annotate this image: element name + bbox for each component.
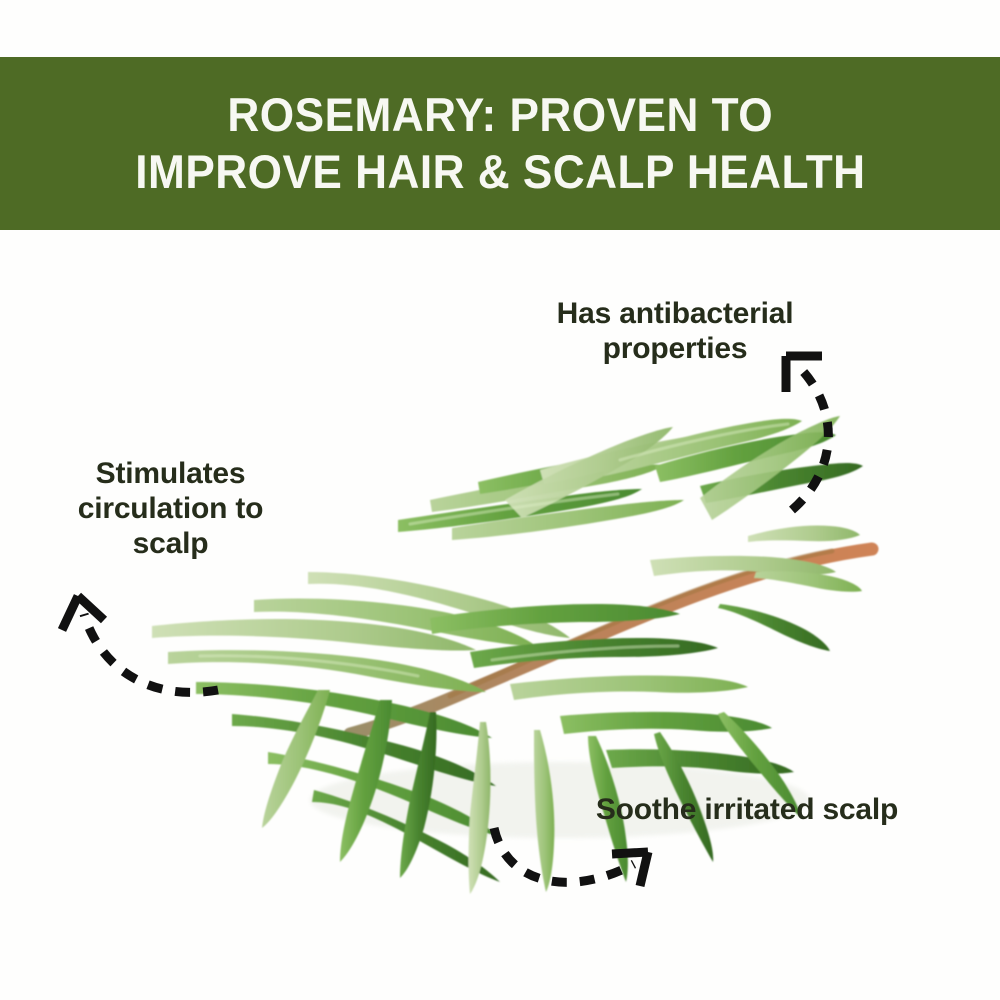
- callout-label-soothe: Soothe irritated scalp: [592, 792, 902, 827]
- callout-label-antibacterial: Has antibacterial properties: [510, 296, 840, 366]
- callout-label-circulation: Stimulates circulation to scalp: [48, 456, 293, 561]
- infographic-canvas: ROSEMARY: PROVEN TO IMPROVE HAIR & SCALP…: [0, 0, 1000, 1000]
